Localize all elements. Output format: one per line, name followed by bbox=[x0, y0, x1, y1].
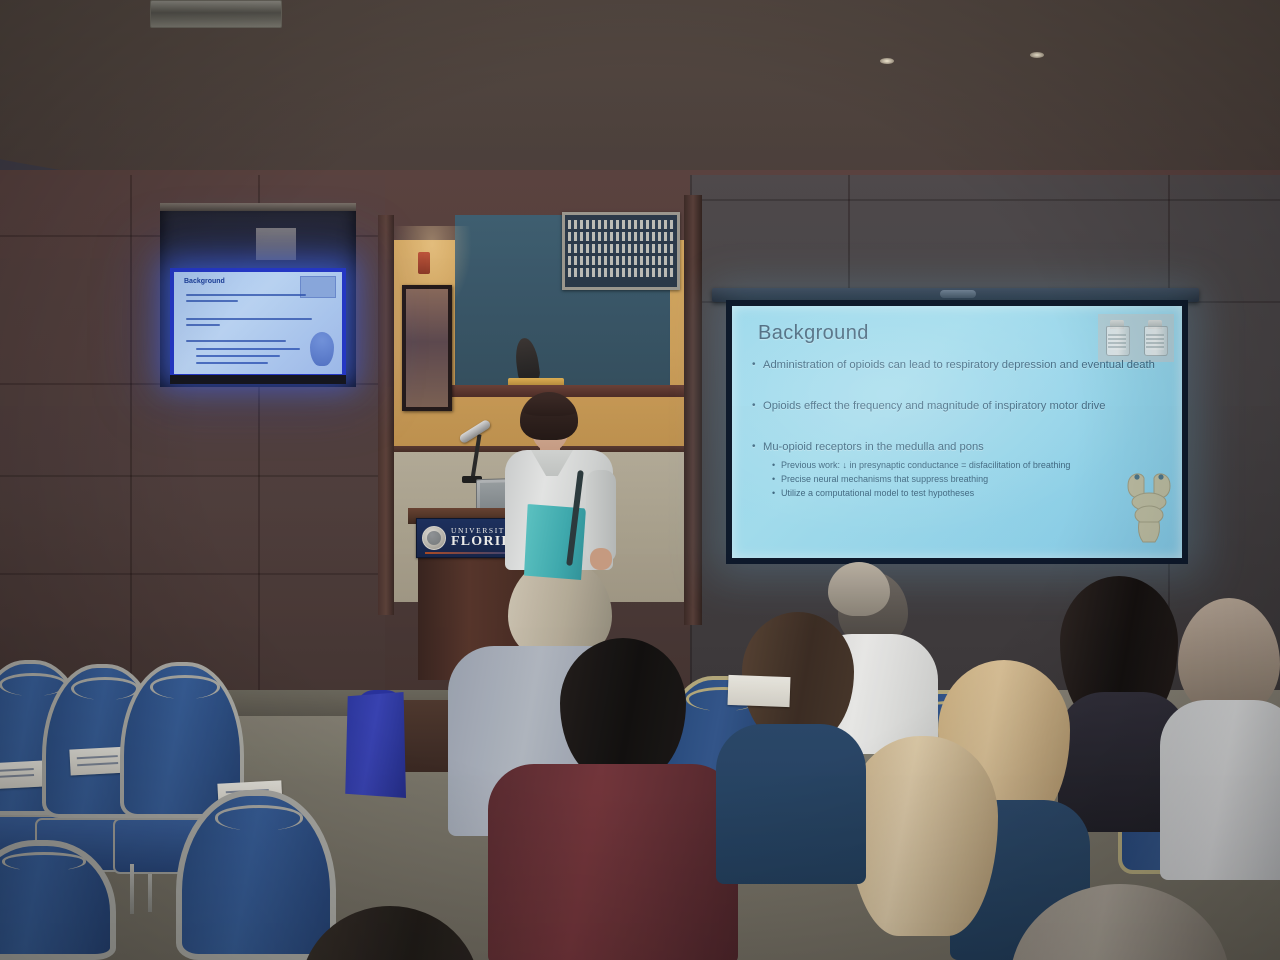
empty-chair-foreground[interactable] bbox=[0, 840, 116, 960]
slide-bullet-text: Opioids effect the frequency and magnitu… bbox=[763, 399, 1166, 414]
alcove-post-right bbox=[684, 195, 702, 625]
torso bbox=[488, 764, 738, 960]
display-shelf bbox=[440, 385, 690, 397]
slide-sub-bullet-text: Precise neural mechanisms that suppress … bbox=[781, 473, 988, 486]
tote-bag bbox=[344, 692, 406, 798]
bullet-dot-icon: • bbox=[772, 473, 781, 486]
bullet-dot-icon: • bbox=[772, 459, 781, 472]
bullet-dot-icon: • bbox=[772, 487, 781, 500]
brainstem-diagram-image bbox=[1122, 468, 1176, 544]
slide-sub-bullet-list: • Previous work: ↓ in presynaptic conduc… bbox=[772, 459, 1166, 499]
slide-sub-bullet: • Precise neural mechanisms that suppres… bbox=[772, 473, 1166, 486]
held-paper[interactable] bbox=[727, 675, 790, 707]
uf-seal-icon bbox=[422, 526, 446, 550]
monitor-slide-title: Background bbox=[184, 278, 225, 285]
vial-icon bbox=[1144, 320, 1166, 356]
projection-screen[interactable]: Background • Administration of opioids c… bbox=[726, 300, 1188, 564]
head bbox=[828, 562, 890, 616]
head bbox=[848, 736, 998, 936]
presenter-hand bbox=[590, 548, 612, 570]
alcove-post-left bbox=[378, 215, 394, 615]
torso bbox=[716, 724, 866, 884]
slide-bullet: • Opioids effect the frequency and magni… bbox=[752, 399, 1166, 414]
conference-room-photo: Background Background bbox=[0, 0, 1280, 960]
confidence-monitor-display: Background bbox=[174, 272, 342, 374]
slide-sub-bullet: • Utilize a computational model to test … bbox=[772, 487, 1166, 500]
slide-body: • Administration of opioids can lead to … bbox=[752, 358, 1166, 500]
head bbox=[560, 638, 686, 780]
ceiling-vent-icon bbox=[150, 0, 282, 28]
screen-roller bbox=[940, 290, 976, 298]
medication-vials-image bbox=[1098, 314, 1174, 362]
monitor-bottom-bezel bbox=[170, 375, 346, 384]
slide-sub-bullet-text: Utilize a computational model to test hy… bbox=[781, 487, 974, 500]
empty-chair-foreground[interactable] bbox=[176, 790, 336, 960]
torso bbox=[1160, 700, 1280, 880]
presentation-slide: Background • Administration of opioids c… bbox=[732, 306, 1182, 558]
vial-icon bbox=[1106, 320, 1128, 356]
recessed-light-icon bbox=[1030, 52, 1044, 58]
slide-sub-bullet: • Previous work: ↓ in presynaptic conduc… bbox=[772, 459, 1166, 472]
program-handout[interactable] bbox=[0, 760, 47, 789]
slide-bullet: • Administration of opioids can lead to … bbox=[752, 358, 1166, 373]
framed-artwork bbox=[402, 285, 452, 411]
bullet-dot-icon: • bbox=[752, 399, 763, 414]
slide-bullet: • Mu-opioid receptors in the medulla and… bbox=[752, 440, 1166, 455]
monitor-brainstem-image bbox=[310, 332, 334, 366]
recessed-light-icon bbox=[880, 58, 894, 64]
bullet-dot-icon: • bbox=[752, 358, 763, 373]
slide-sub-bullet-text: Previous work: ↓ in presynaptic conducta… bbox=[781, 459, 1070, 472]
framed-team-photo bbox=[562, 212, 680, 290]
confidence-monitor[interactable]: Background bbox=[170, 268, 346, 378]
bullet-dot-icon: • bbox=[752, 440, 763, 455]
monitor-mount-bracket bbox=[256, 228, 296, 260]
monitor-recess-top-edge bbox=[160, 203, 356, 211]
slide-bullet-text: Administration of opioids can lead to re… bbox=[763, 358, 1166, 373]
wall-sconce-light-icon bbox=[418, 252, 430, 274]
slide-title: Background bbox=[758, 322, 869, 345]
slide-bullet-text: Mu-opioid receptors in the medulla and p… bbox=[763, 440, 1166, 455]
